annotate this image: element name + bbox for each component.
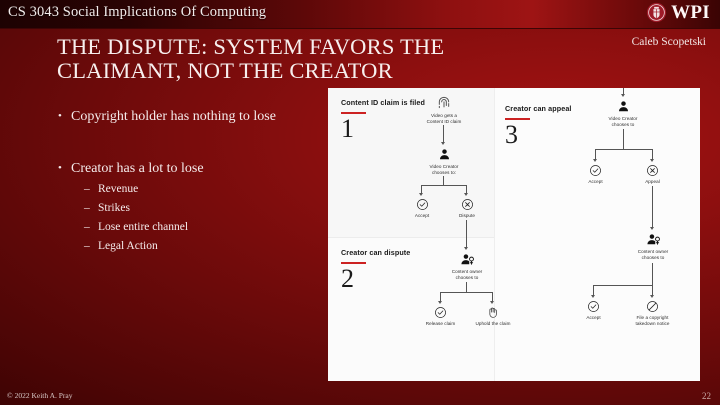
- connector-line: [466, 282, 467, 292]
- node-owner-choice-2: Content owner chooses to: [621, 232, 685, 261]
- step-heading-3: Creator can appeal 3: [505, 104, 572, 149]
- node-caption: Release claim: [419, 321, 462, 327]
- slide-header-bar: CS 3043 Social Implications Of Computing…: [0, 0, 720, 29]
- node-creator-choice-1: Video Creator chooses to:: [412, 147, 476, 176]
- sub-bullet-marker: –: [84, 238, 98, 254]
- node-accept-1: Accept: [404, 198, 440, 219]
- connector-arrow: [490, 301, 494, 304]
- connector-arrow: [464, 247, 468, 250]
- check-circle-icon: [434, 306, 447, 319]
- person-search-icon: [459, 252, 476, 267]
- node-caption: Accept: [575, 315, 612, 321]
- node-release-claim: Release claim: [419, 306, 462, 327]
- connector-arrow: [593, 159, 597, 162]
- bullet-text: Creator has a lot to lose: [71, 160, 326, 178]
- node-caption: Uphold the claim: [470, 321, 516, 327]
- connector-arrow: [650, 159, 654, 162]
- connector-arrow: [591, 295, 595, 298]
- connector-line: [440, 292, 492, 293]
- connector-line: [623, 129, 624, 149]
- node-creator-choice-2: Video Creator chooses to: [591, 99, 655, 128]
- sub-bullet-marker: –: [84, 181, 98, 197]
- person-search-icon: [645, 232, 662, 247]
- node-owner-choice-1: Content owner chooses to: [435, 252, 499, 281]
- connector-line: [421, 185, 466, 186]
- wpi-logo-text: WPI: [671, 2, 710, 23]
- bullet-text: Copyright holder has nothing to lose: [71, 108, 326, 126]
- sub-bullet-item: – Legal Action: [84, 238, 326, 254]
- sub-bullet-item: – Lose entire channel: [84, 219, 326, 235]
- sub-bullet-text: Lose entire channel: [98, 219, 326, 235]
- node-takedown-notice: File a copyright takedown notice: [626, 300, 679, 327]
- node-caption: Accept: [404, 213, 440, 219]
- step-number: 3: [505, 121, 572, 149]
- node-caption: Video Creator chooses to: [591, 116, 655, 128]
- course-title: CS 3043 Social Implications Of Computing: [8, 4, 266, 21]
- content-id-flowchart: Content ID claim is filed 1 Video gets a…: [328, 88, 700, 381]
- connector-line: [652, 263, 653, 285]
- x-circle-icon: [461, 198, 474, 211]
- sub-bullet-item: – Strikes: [84, 200, 326, 216]
- bullet-item: • Copyright holder has nothing to lose: [58, 108, 326, 126]
- connector-arrow: [419, 193, 423, 196]
- node-caption: Video Creator chooses to:: [412, 164, 476, 176]
- node-claim-filed: Video gets a Content ID claim: [410, 95, 478, 125]
- sub-bullet-item: – Revenue: [84, 181, 326, 197]
- sub-bullet-text: Revenue: [98, 181, 326, 197]
- author-name: Caleb Scopetski: [632, 36, 706, 48]
- sub-bullet-marker: –: [84, 200, 98, 216]
- connector-arrow: [464, 193, 468, 196]
- person-icon: [616, 99, 631, 114]
- connector-line: [443, 176, 444, 185]
- connector-arrow: [650, 295, 654, 298]
- node-appeal: Appeal: [634, 164, 671, 185]
- connector-line: [443, 125, 444, 143]
- step-label: Creator can dispute: [341, 248, 410, 258]
- hand-icon: [487, 306, 499, 319]
- node-accept-2: Accept: [577, 164, 614, 185]
- node-caption: Accept: [577, 179, 614, 185]
- bullet-marker: •: [58, 160, 71, 178]
- check-circle-icon: [416, 198, 429, 211]
- presentation-slide: CS 3043 Social Implications Of Computing…: [0, 0, 720, 405]
- step-label: Creator can appeal: [505, 104, 572, 114]
- node-caption: Content owner chooses to: [435, 269, 499, 281]
- node-caption: File a copyright takedown notice: [626, 315, 679, 327]
- fingerprint-icon: [436, 95, 452, 111]
- bullet-marker: •: [58, 108, 71, 126]
- connector-line: [595, 149, 652, 150]
- node-dispute-1: Dispute: [449, 198, 485, 219]
- node-caption: Video gets a Content ID claim: [410, 113, 478, 125]
- x-circle-icon: [646, 164, 659, 177]
- prohibition-icon: [646, 300, 659, 313]
- sub-bullet-text: Legal Action: [98, 238, 326, 254]
- node-caption: Content owner chooses to: [621, 249, 685, 261]
- check-circle-icon: [589, 164, 602, 177]
- bullet-item: • Creator has a lot to lose: [58, 160, 326, 178]
- wpi-logo: WPI: [646, 2, 710, 23]
- node-accept-3: Accept: [575, 300, 612, 321]
- bullet-list: • Copyright holder has nothing to lose •…: [58, 108, 326, 254]
- sub-bullet-text: Strikes: [98, 200, 326, 216]
- connector-line: [593, 285, 653, 286]
- page-number: 22: [702, 391, 711, 401]
- node-caption: Appeal: [634, 179, 671, 185]
- wpi-seal-icon: [646, 2, 667, 23]
- person-icon: [437, 147, 452, 162]
- step-number: 2: [341, 265, 410, 293]
- connector-arrow: [438, 301, 442, 304]
- copyright-notice: © 2022 Keith A. Pray: [7, 391, 73, 400]
- slide-title: THE DISPUTE: SYSTEM FAVORS THE CLAIMANT,…: [57, 35, 507, 83]
- node-caption: Dispute: [449, 213, 485, 219]
- connector-arrow: [650, 227, 654, 230]
- connector-arrow: [621, 94, 625, 97]
- connector-line: [466, 220, 467, 248]
- node-uphold-claim: Uphold the claim: [470, 306, 516, 327]
- connector-arrow: [441, 142, 445, 145]
- sub-bullet-marker: –: [84, 219, 98, 235]
- step-heading-2: Creator can dispute 2: [341, 248, 410, 293]
- bullet-spacer: [58, 130, 326, 160]
- check-circle-icon: [587, 300, 600, 313]
- connector-line: [652, 186, 653, 228]
